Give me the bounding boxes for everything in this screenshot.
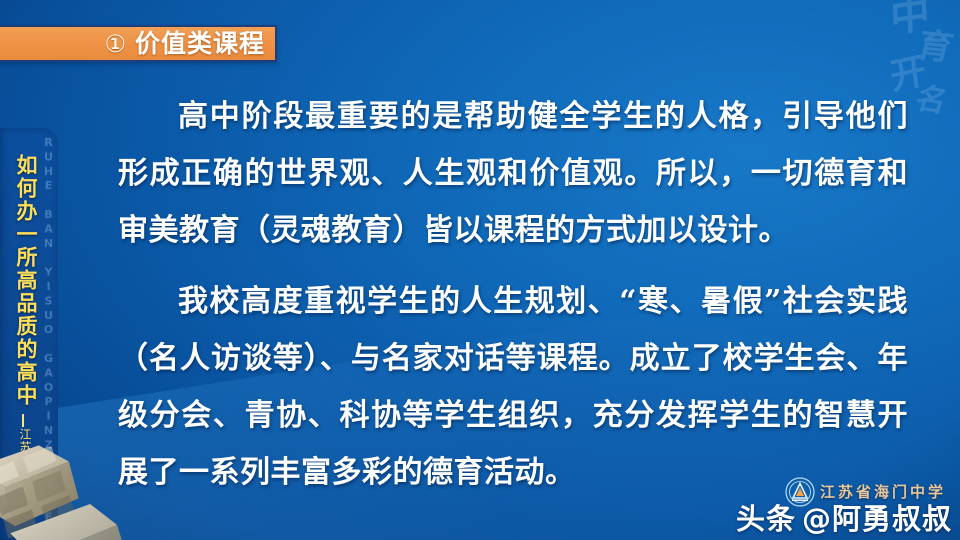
sidebar-panel: RUHE BAN YISUO GAOPINZHI DE GAOZHONG 如何办… <box>0 128 58 540</box>
paragraph-1: 高中阶段最重要的是帮助健全学生的人格，引导他们形成正确的世界观、人生观和价值观。… <box>118 88 908 259</box>
body-content: 高中阶段最重要的是帮助健全学生的人格，引导他们形成正确的世界观、人生观和价值观。… <box>118 88 908 501</box>
sidebar-dash-divider <box>22 414 24 427</box>
paragraph-2: 我校高度重视学生的人生规划、“寒、暑假”社会实践（名人访谈等）、与名家对话等课程… <box>118 273 908 501</box>
calligraphy-char-4: 名 <box>911 84 950 118</box>
title-banner: ① 价值类课程 <box>0 25 277 62</box>
title-label: 价值类课程 <box>135 31 265 56</box>
sidebar-pinyin-watermark: RUHE BAN YISUO GAOPINZHI DE GAOZHONG <box>40 136 57 532</box>
title-number: ① <box>104 32 126 56</box>
slide-root: 中 育 开 名 RUHE BAN YISUO GAOPINZHI DE GAOZ… <box>0 0 960 540</box>
sidebar-subtitle: 江苏省海门中学 <box>18 428 32 519</box>
calligraphy-char-2: 育 <box>914 29 956 66</box>
watermark-handle-row: 头条 @阿勇叔叔 <box>736 503 952 536</box>
watermark-brand: 头条 <box>736 503 796 536</box>
sidebar-main-title: 如何办一所高品质的高中 <box>14 154 37 407</box>
watermark-handle: @阿勇叔叔 <box>802 503 952 536</box>
calligraphy-char-1: 中 <box>889 0 930 39</box>
